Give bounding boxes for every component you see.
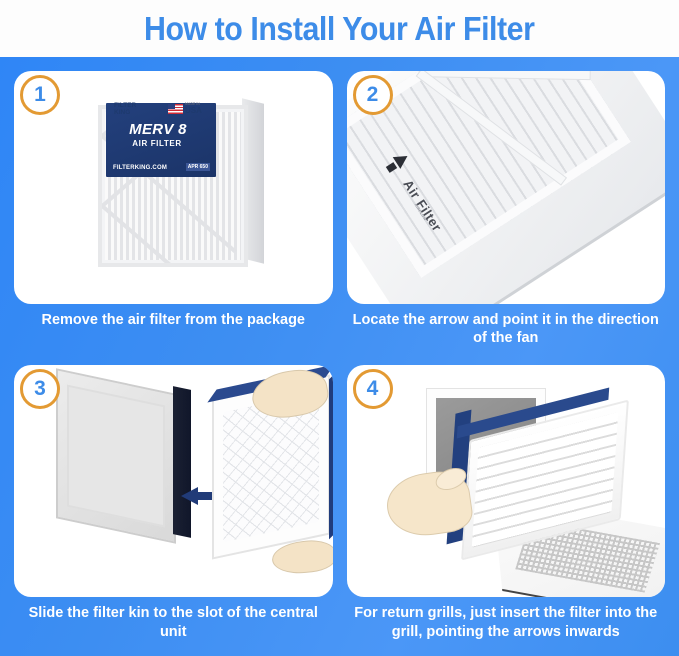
step-1-card: 1 — [14, 71, 333, 304]
central-unit-slot — [173, 386, 191, 538]
central-unit-panel — [67, 384, 165, 527]
arrow-head — [181, 487, 198, 505]
brand-line-2: KING — [114, 109, 130, 116]
step-1: 1 — [14, 71, 333, 359]
step-4-artwork — [347, 365, 666, 598]
step-2-badge: 2 — [353, 75, 393, 115]
step-3-card: 3 — [14, 365, 333, 598]
website-text: FILTERKING.COM — [113, 165, 167, 171]
step-3-badge: 3 — [20, 369, 60, 409]
infographic-page: How to Install Your Air Filter 1 — [0, 0, 679, 656]
steps-grid: 1 — [0, 57, 679, 656]
step-2-caption: Locate the arrow and point it in the dir… — [347, 304, 666, 359]
step-1-caption: Remove the air filter from the package — [14, 304, 333, 359]
usa-flag-icon — [168, 104, 183, 114]
step-2: 2 Air Filter AIRFLOW Locate the arrow an… — [347, 71, 666, 359]
step-4: 4 For return gri — [347, 365, 666, 653]
apr-rating-text: APR 650 — [186, 163, 210, 171]
step-3-artwork — [14, 365, 333, 598]
step-2-card: 2 Air Filter AIRFLOW — [347, 71, 666, 304]
central-unit-body — [56, 368, 176, 544]
merv-rating-text: MERV 8 — [106, 121, 210, 138]
step-4-card: 4 — [347, 365, 666, 598]
filter-right-edge — [329, 367, 333, 539]
step-4-caption: For return grills, just insert the filte… — [347, 597, 666, 652]
step-2-artwork: Air Filter AIRFLOW — [347, 71, 666, 304]
page-title: How to Install Your Air Filter — [144, 10, 534, 48]
step-4-badge: 4 — [353, 369, 393, 409]
header-bar: How to Install Your Air Filter — [0, 0, 679, 57]
filter-corner-frame — [347, 71, 666, 304]
air-filter-text: AIR FILTER — [106, 139, 208, 148]
step-1-artwork: FILTER KING MADE IN USA MERV 8 — [14, 71, 333, 304]
step-3-caption: Slide the filter kin to the slot of the … — [14, 597, 333, 652]
filter-king-logo: FILTER KING — [114, 103, 136, 117]
step-3: 3 — [14, 365, 333, 653]
country-text: USA — [185, 106, 202, 115]
made-in-usa-badge: MADE IN USA — [168, 103, 202, 115]
usa-text-group: MADE IN USA — [185, 103, 202, 115]
air-filter-photo: FILTER KING MADE IN USA MERV 8 — [92, 97, 270, 272]
step-1-badge: 1 — [20, 75, 60, 115]
